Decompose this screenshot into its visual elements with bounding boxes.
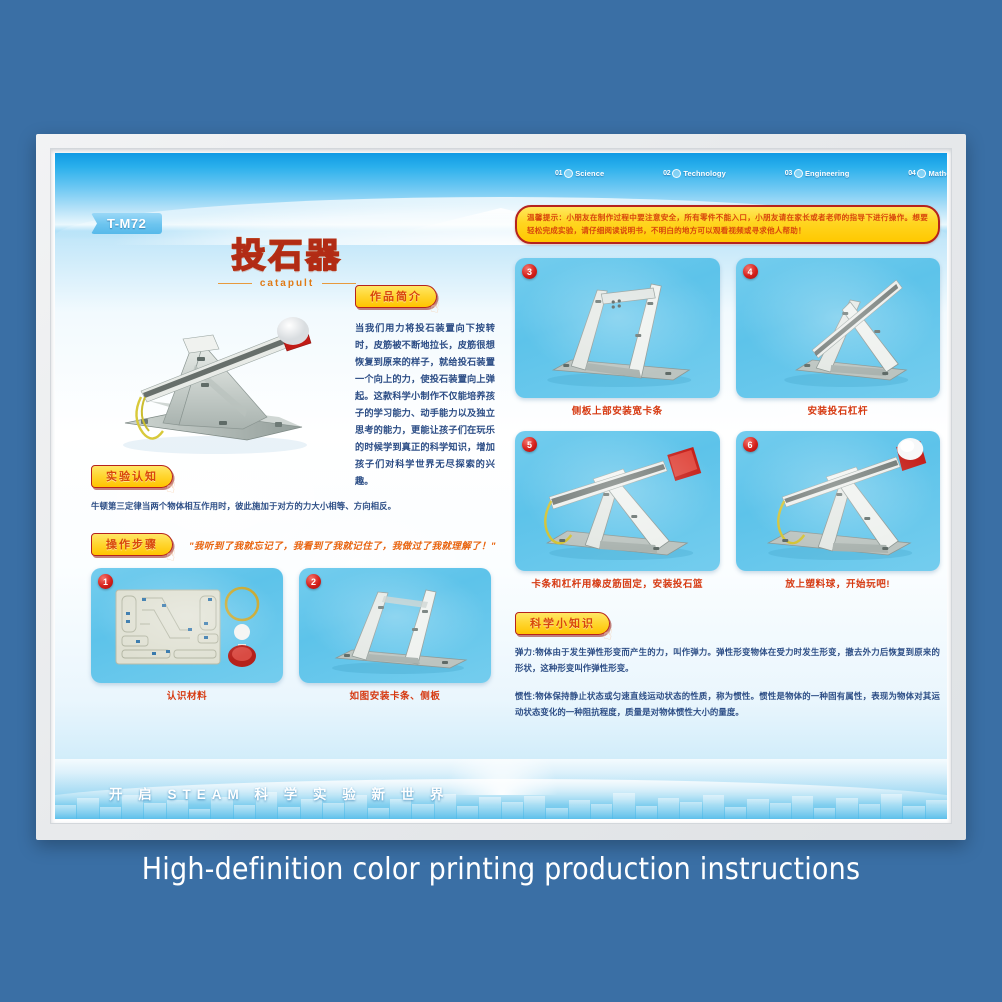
- steam-label: Science: [575, 169, 604, 178]
- science-icon: [564, 169, 573, 178]
- steps-heading: 操作步骤☝: [91, 533, 173, 556]
- left-column: T-M72 投石器 catapult: [77, 213, 497, 289]
- title-rule-left: [218, 283, 252, 284]
- steam-header: 01 Science 02 Technology 03 Engineering …: [555, 169, 947, 178]
- step-card-4: 4 安装投石杠杆: [736, 258, 941, 417]
- step-caption: 卡条和杠杆用橡皮筋固定，安装投石篮: [515, 576, 720, 590]
- safety-tip-banner: 温馨提示：小朋友在制作过程中要注意安全，所有零件不能入口，小朋友请在家长或者老师…: [515, 205, 940, 244]
- steps-quote: "我听到了我就忘记了，我看到了我就记住了，我做过了我就理解了！": [189, 538, 496, 552]
- title-rule-right: [322, 283, 356, 284]
- knowledge-heading: 科学小知识☝: [515, 612, 610, 635]
- step-number-badge: 2: [306, 574, 321, 589]
- pointing-hand-icon: ☝: [165, 480, 189, 501]
- step-caption: 侧板上部安装宽卡条: [515, 403, 720, 417]
- step-number-badge: 1: [98, 574, 113, 589]
- step-photo-1: 1: [91, 568, 283, 683]
- step-card-6: 6: [736, 431, 941, 590]
- step-caption: 放上塑料球，开始玩吧!: [736, 576, 941, 590]
- step-photo-6: 6: [736, 431, 941, 571]
- pointing-hand-icon: ☝: [429, 300, 453, 321]
- lever-assembly-photo: [736, 258, 941, 398]
- steam-item-engineering: 03 Engineering: [785, 169, 850, 178]
- step-number-badge: 5: [522, 437, 537, 452]
- pointing-hand-icon: ☝: [165, 548, 189, 569]
- rubber-band-basket-photo: [515, 431, 720, 571]
- steam-number: 02: [663, 170, 670, 177]
- image-caption: High-definition color printing productio…: [0, 852, 1002, 887]
- step-card-2: 2 如图安装卡条、侧板: [299, 568, 491, 702]
- engineering-icon: [794, 169, 803, 178]
- steps-1-2-grid: 1: [91, 568, 491, 702]
- cognition-block: 实验认知☝ 牛顿第三定律当两个物体相互作用时，彼此施加于对方的力大小相等、方向相…: [91, 465, 491, 515]
- steam-item-science: 01 Science: [555, 169, 604, 178]
- hero-product-photo: [97, 305, 337, 455]
- step-caption: 认识材料: [91, 688, 283, 702]
- poster-frame: 01 Science 02 Technology 03 Engineering …: [36, 134, 966, 840]
- steam-item-mathematics: 04 Mathematics: [908, 169, 947, 178]
- pointing-hand-icon: ☝: [602, 627, 626, 648]
- knowledge-para-2: 惯性:物体保持静止状态或匀速直线运动状态的性质，称为惯性。惯性是物体的一种固有属…: [515, 689, 940, 721]
- footer-slogan: 开 启 STEAM 科 学 实 验 新 世 界: [109, 783, 450, 803]
- poster-footer: 开 启 STEAM 科 学 实 验 新 世 界: [55, 759, 947, 819]
- cognition-heading: 实验认知☝: [91, 465, 173, 488]
- steps-3-6-grid: 3: [515, 258, 940, 590]
- ball-loaded-photo: [736, 431, 941, 571]
- step-photo-3: 3: [515, 258, 720, 398]
- side-panels-assembly-photo: [299, 568, 491, 683]
- steps-heading-block: 操作步骤☝ "我听到了我就忘记了，我看到了我就记住了，我做过了我就理解了！": [91, 533, 501, 556]
- materials-tray-photo: [91, 568, 283, 683]
- steam-label: Technology: [683, 169, 726, 178]
- intro-heading: 作品简介☝: [355, 285, 437, 308]
- step-caption: 安装投石杠杆: [736, 403, 941, 417]
- step-photo-4: 4: [736, 258, 941, 398]
- right-column: 温馨提示：小朋友在制作过程中要注意安全，所有零件不能入口，小朋友请在家长或者老师…: [515, 205, 940, 721]
- steam-label: Mathematics: [928, 169, 947, 178]
- technology-icon: [672, 169, 681, 178]
- mathematics-icon: [917, 169, 926, 178]
- steam-number: 01: [555, 170, 562, 177]
- intro-block: 作品简介☝ 当我们用力将投石装置向下按转时，皮筋被不断地拉长，皮筋很想恢复到原来…: [355, 285, 495, 490]
- title-block: 投石器 catapult: [77, 228, 497, 289]
- step-caption: 如图安装卡条、侧板: [299, 688, 491, 702]
- catapult-illustration: [97, 305, 337, 455]
- steam-number: 03: [785, 170, 792, 177]
- step-card-3: 3: [515, 258, 720, 417]
- step-photo-5: 5: [515, 431, 720, 571]
- step-number-badge: 6: [743, 437, 758, 452]
- poster-frame-inner: 01 Science 02 Technology 03 Engineering …: [50, 148, 952, 824]
- step-card-1: 1: [91, 568, 283, 702]
- step-number-badge: 4: [743, 264, 758, 279]
- knowledge-block: 科学小知识☝ 弹力:物体由于发生弹性形变而产生的力，叫作弹力。弹性形变物体在受力…: [515, 612, 940, 721]
- step-card-5: 5: [515, 431, 720, 590]
- cognition-body: 牛顿第三定律当两个物体相互作用时，彼此施加于对方的力大小相等、方向相反。: [91, 499, 491, 515]
- knowledge-para-1: 弹力:物体由于发生弹性形变而产生的力，叫作弹力。弹性形变物体在受力时发生形变，撤…: [515, 645, 940, 677]
- steam-item-technology: 02 Technology: [663, 169, 726, 178]
- steam-number: 04: [908, 170, 915, 177]
- page-title: 投石器: [77, 228, 497, 277]
- step-photo-2: 2: [299, 568, 491, 683]
- product-code-badge: T-M72: [91, 213, 162, 234]
- instruction-poster: 01 Science 02 Technology 03 Engineering …: [55, 153, 947, 819]
- step-number-badge: 3: [522, 264, 537, 279]
- wide-bar-assembly-photo: [515, 258, 720, 398]
- page-subtitle-text: catapult: [260, 278, 314, 289]
- steam-label: Engineering: [805, 169, 849, 178]
